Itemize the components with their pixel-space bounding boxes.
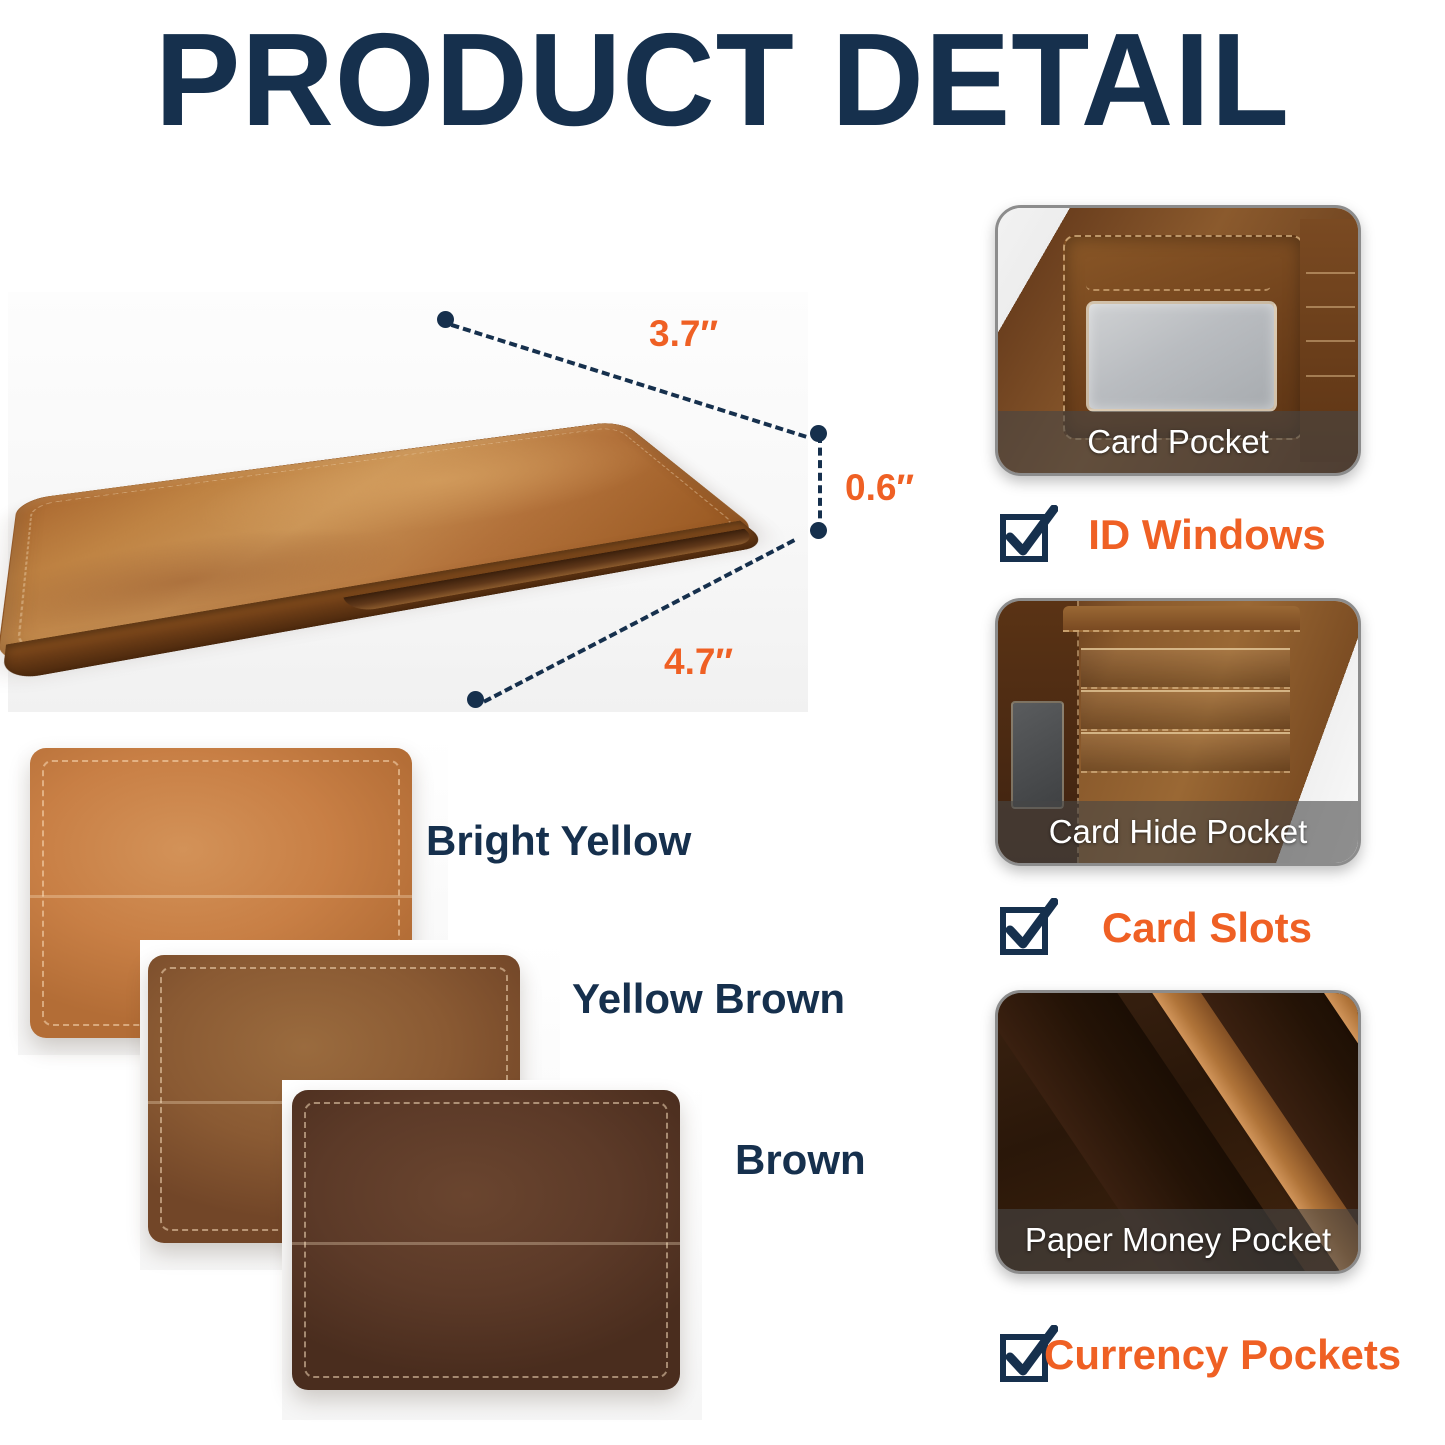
dimension-label-length: 4.7″ bbox=[664, 641, 733, 683]
card-caption: Card Hide Pocket bbox=[998, 801, 1358, 863]
card-slot-band bbox=[1081, 690, 1290, 731]
color-label-bright-yellow: Bright Yellow bbox=[426, 817, 691, 865]
dimension-dot-front-left bbox=[467, 691, 484, 708]
card-caption: Card Pocket bbox=[998, 411, 1358, 473]
feature-label: Card Slots bbox=[998, 898, 1358, 958]
card-pocket-slot bbox=[1086, 253, 1271, 291]
swatch-wallet-brown bbox=[292, 1090, 680, 1390]
card-hide-top-edge bbox=[1063, 606, 1301, 632]
dimension-label-width: 3.7″ bbox=[649, 313, 718, 355]
feature-card-card-hide-pocket[interactable]: Card Hide Pocket bbox=[995, 598, 1361, 866]
id-window bbox=[1086, 301, 1277, 412]
feature-card-card-pocket[interactable]: Card Pocket bbox=[995, 205, 1361, 476]
feature-check-currency-pockets[interactable]: Currency Pockets bbox=[998, 1325, 1358, 1387]
feature-label: Currency Pockets bbox=[998, 1325, 1358, 1385]
feature-check-card-slots[interactable]: Card Slots bbox=[998, 898, 1358, 960]
dimension-line-thickness bbox=[818, 435, 822, 531]
feature-check-id-windows[interactable]: ID Windows bbox=[998, 505, 1358, 567]
dimension-dot-bottom-right bbox=[810, 522, 827, 539]
product-detail-infographic: PRODUCT DETAIL 3.7″ 0.6″ 4.7″ Bright Yel… bbox=[0, 0, 1445, 1445]
feature-label: ID Windows bbox=[998, 505, 1358, 565]
card-slot-band bbox=[1081, 648, 1290, 689]
page-title: PRODUCT DETAIL bbox=[22, 10, 1424, 150]
card-slot-band bbox=[1081, 732, 1290, 773]
card-hide-window bbox=[1011, 701, 1064, 810]
card-caption: Paper Money Pocket bbox=[998, 1209, 1358, 1271]
dimension-label-thickness: 0.6″ bbox=[845, 467, 914, 509]
color-label-yellow-brown: Yellow Brown bbox=[572, 975, 845, 1023]
feature-card-paper-money-pocket[interactable]: Paper Money Pocket bbox=[995, 990, 1361, 1274]
card-pocket-panel bbox=[1063, 235, 1305, 440]
color-label-brown: Brown bbox=[735, 1136, 866, 1184]
